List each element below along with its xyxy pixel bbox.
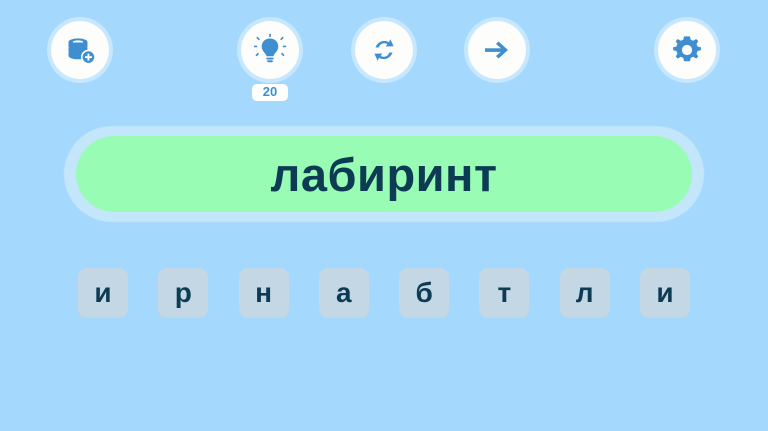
game-screen: 20 (0, 0, 768, 431)
gear-icon (671, 34, 703, 66)
top-toolbar: 20 (0, 0, 768, 112)
letter-tile[interactable]: р (158, 268, 208, 318)
letter-tile[interactable]: т (479, 268, 529, 318)
skip-button[interactable] (468, 21, 526, 79)
letter-tile[interactable]: и (640, 268, 690, 318)
settings-button[interactable] (658, 21, 716, 79)
letter-tile[interactable]: л (560, 268, 610, 318)
hint-button[interactable] (241, 21, 299, 79)
shuffle-arrows-icon (368, 34, 400, 66)
lightbulb-icon (253, 33, 287, 67)
shuffle-button[interactable] (355, 21, 413, 79)
hint-count-badge: 20 (252, 84, 288, 101)
letter-tile[interactable]: б (399, 268, 449, 318)
answer-slot-area[interactable]: лабиринт (76, 136, 692, 212)
hint-button-wrapper: 20 (241, 21, 299, 101)
answer-word: лабиринт (271, 151, 498, 198)
letter-tile[interactable]: а (319, 268, 369, 318)
coins-plus-icon (63, 33, 97, 67)
arrow-right-icon (481, 34, 513, 66)
letter-tile-row: и р н а б т л и (78, 268, 690, 318)
add-coins-button[interactable] (51, 21, 109, 79)
letter-tile[interactable]: и (78, 268, 128, 318)
letter-tile[interactable]: н (239, 268, 289, 318)
